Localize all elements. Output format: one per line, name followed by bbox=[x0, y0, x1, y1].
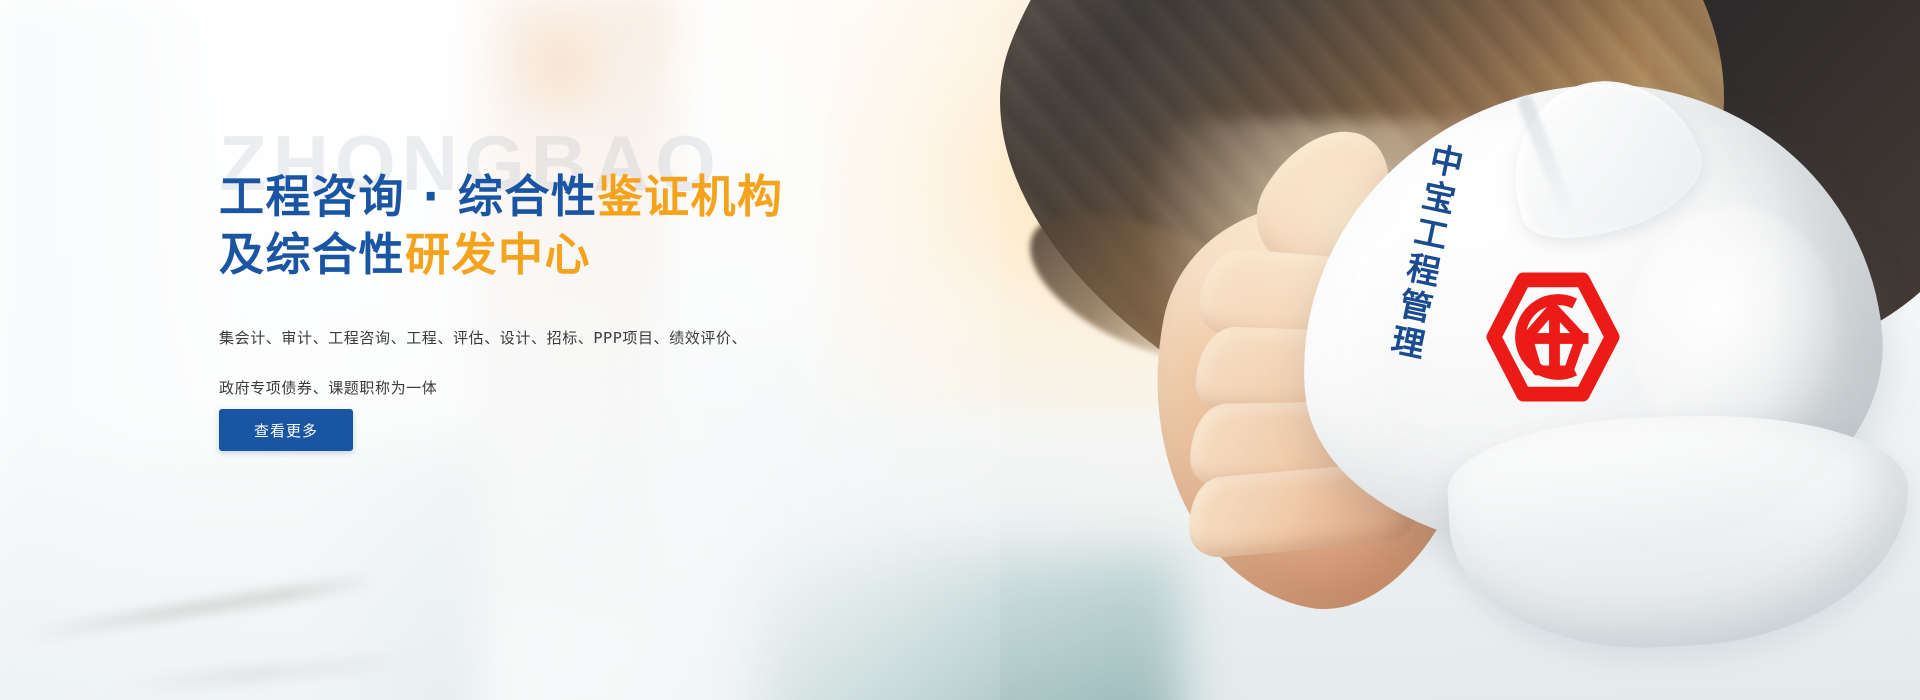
hero-banner: 中宝工程管理 ZHONGBAO 工程咨询 · 综合性鉴证机构 及综合性研发中心 … bbox=[0, 0, 1920, 700]
view-more-button[interactable]: 查看更多 bbox=[219, 409, 353, 451]
helmet-brim bbox=[1444, 404, 1915, 658]
subtitle-line-2: 政府专项债券、课题职称为一体 bbox=[219, 363, 859, 413]
headline-line-2-blue: 及综合性 bbox=[219, 228, 405, 281]
headline-line-2: 及综合性研发中心 bbox=[219, 226, 1039, 284]
subtitle-line-1: 集会计、审计、工程咨询、工程、评估、设计、招标、PPP项目、绩效评价、 bbox=[219, 313, 859, 363]
headline-line-1-blue: 工程咨询 · 综合性 bbox=[219, 170, 597, 223]
headline-line-2-orange: 研发中心 bbox=[405, 228, 591, 281]
hero-content: ZHONGBAO 工程咨询 · 综合性鉴证机构 及综合性研发中心 集会计、审计、… bbox=[219, 0, 1059, 700]
headline-line-1: 工程咨询 · 综合性鉴证机构 bbox=[219, 168, 1039, 226]
hard-hat: 中宝工程管理 bbox=[1300, 86, 1920, 646]
headline-line-1-orange: 鉴证机构 bbox=[597, 170, 783, 223]
zhongbao-hexagon-logo-icon bbox=[1484, 272, 1622, 402]
hero-subtitle: 集会计、审计、工程咨询、工程、评估、设计、招标、PPP项目、绩效评价、 政府专项… bbox=[219, 313, 859, 413]
hero-headline: 工程咨询 · 综合性鉴证机构 及综合性研发中心 bbox=[219, 168, 1039, 284]
